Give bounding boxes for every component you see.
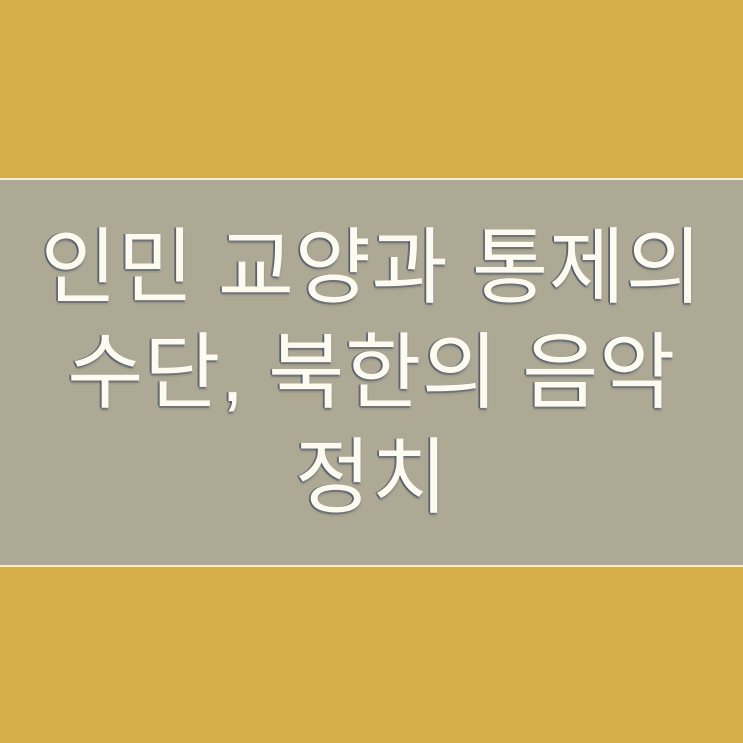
title-line-3: 정치 [16, 425, 727, 530]
title-banner: 인민 교양과 통제의 수단, 북한의 음악 정치 [0, 178, 743, 567]
thumbnail-card: 인민 교양과 통제의 수단, 북한의 음악 정치 [0, 0, 743, 743]
title-line-2: 수단, 북한의 음악 [16, 320, 727, 425]
title-line-1: 인민 교양과 통제의 [16, 215, 727, 320]
title-block: 인민 교양과 통제의 수단, 북한의 음악 정치 [0, 215, 743, 530]
